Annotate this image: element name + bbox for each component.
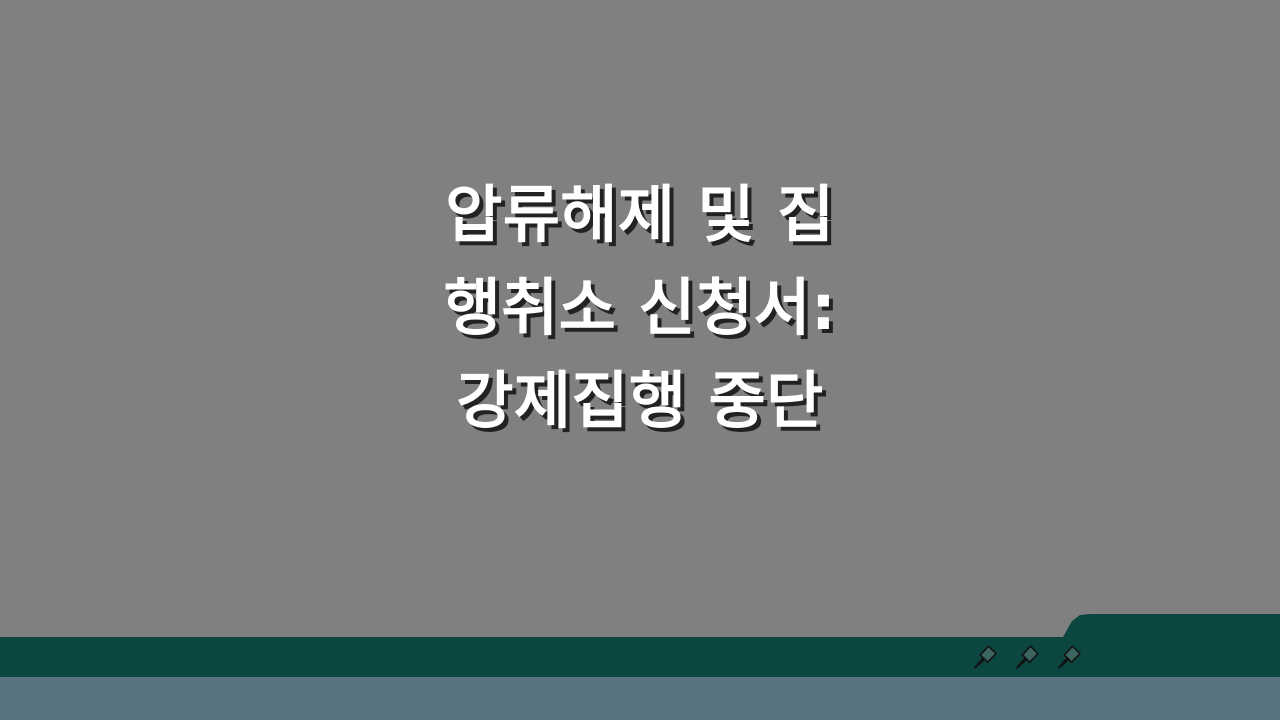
pushpin-icon [1056, 644, 1082, 670]
pushpin-icon-2 [1014, 644, 1040, 670]
pushpin-group [972, 638, 1082, 676]
pushpin-icon-3 [1056, 644, 1082, 670]
title-line-3: 강제집행 중단 [200, 354, 1080, 447]
slate-footer-strip [0, 677, 1280, 720]
title-block: 압류해제 및 집 행취소 신청서: 강제집행 중단 [0, 0, 1280, 614]
pushpin-icon-1 [972, 644, 998, 670]
title-line-2: 행취소 신청서: [200, 261, 1080, 354]
teal-footer-band [0, 614, 1280, 677]
pushpin-icon [1014, 644, 1040, 670]
pushpin-icon [972, 644, 998, 670]
slide-canvas: 압류해제 및 집 행취소 신청서: 강제집행 중단 [0, 0, 1280, 720]
title-line-1: 압류해제 및 집 [200, 168, 1080, 261]
bottom-decoration-bar [0, 600, 1280, 720]
